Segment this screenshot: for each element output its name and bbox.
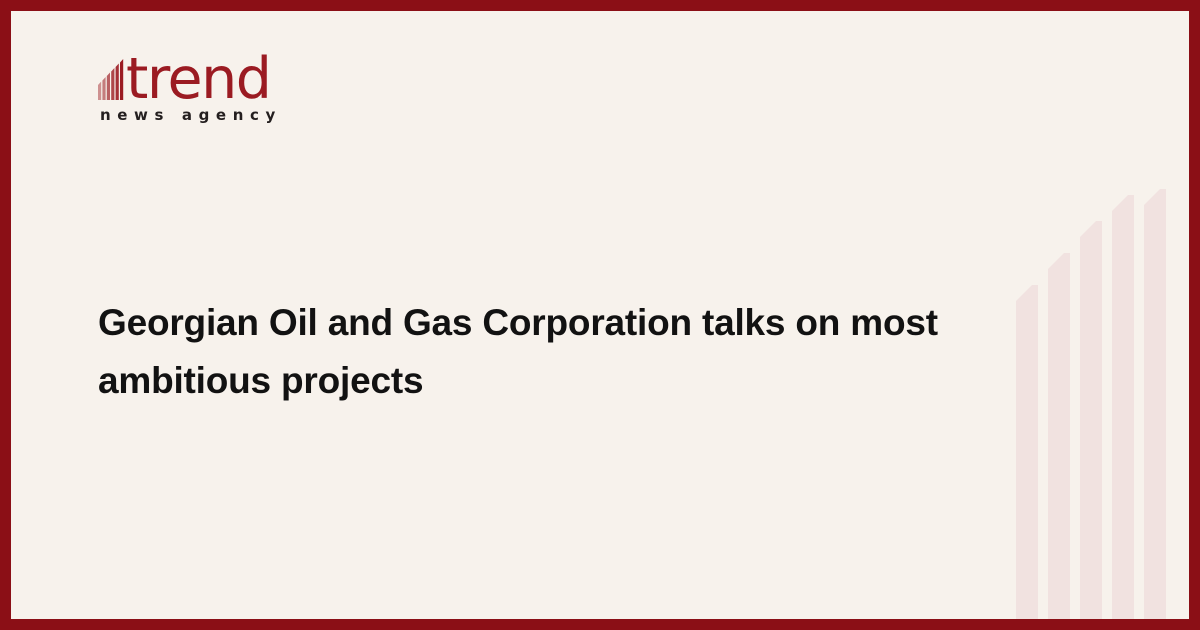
brand-tagline: news agency: [100, 106, 398, 124]
decor-bar-5: [1144, 189, 1166, 619]
decor-bar-2: [1048, 253, 1070, 619]
decor-bar-1: [1016, 285, 1038, 619]
trend-bar-chart-mark-icon: [98, 52, 125, 100]
decor-bar-4: [1112, 195, 1134, 619]
card-canvas: trend news agency Georgian Oil and Gas C…: [11, 11, 1189, 619]
logo-lockup: trend: [98, 45, 398, 103]
ascending-bars-watermark: [1016, 189, 1176, 619]
decor-bar-3: [1080, 221, 1102, 619]
brand-logo[interactable]: trend news agency: [98, 45, 398, 124]
share-card: trend news agency Georgian Oil and Gas C…: [0, 0, 1200, 630]
brand-wordmark: trend: [126, 55, 270, 103]
headline-text: Georgian Oil and Gas Corporation talks o…: [98, 294, 978, 410]
